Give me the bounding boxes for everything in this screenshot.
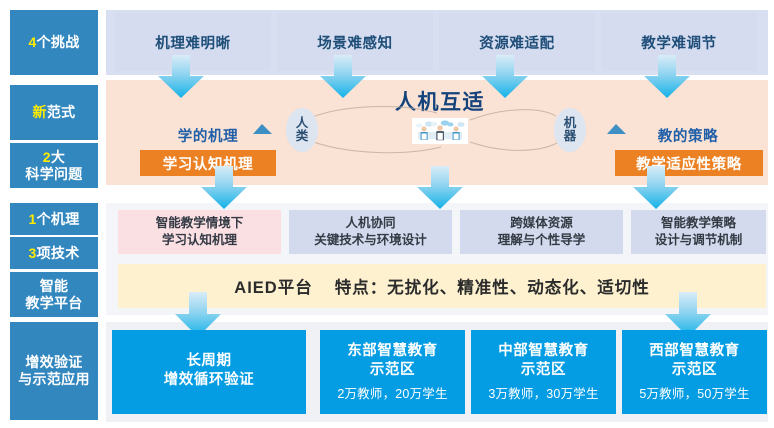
application-card-4[interactable]: 西部智慧教育 示范区 5万教师，50万学生: [622, 330, 767, 414]
aied-platform-strip[interactable]: AIED平台 特点：无扰化、精准性、动态化、适切性: [118, 264, 766, 308]
aied-platform-features: 特点：无扰化、精准性、动态化、适切性: [335, 274, 650, 298]
application-card-title: 长周期 增效循环验证: [164, 352, 255, 390]
application-card-title: 中部智慧教育 示范区: [498, 342, 589, 380]
application-card-sub: 2万教师，20万学生: [337, 383, 447, 402]
application-card-title: 西部智慧教育 示范区: [649, 342, 740, 380]
diagram-canvas: 4个挑战 新范式 2大 科学问题 1个机理 3项技术 智能 教学平台 增效验证 …: [0, 0, 774, 428]
application-card-2[interactable]: 东部智慧教育 示范区 2万教师，20万学生: [320, 330, 465, 414]
node-machine-label: 机 器: [564, 117, 577, 143]
human-machine-illustration: [412, 118, 468, 144]
tech-label: 人机协同 关键技术与环境设计: [314, 215, 427, 249]
application-card-1[interactable]: 长周期 增效循环验证: [112, 330, 306, 414]
tech-box-3[interactable]: 跨媒体资源 理解与个性导学: [460, 210, 623, 254]
node-human[interactable]: 人 类: [286, 108, 318, 152]
subtitle-text: 教的策略: [658, 125, 718, 146]
aied-platform-name: AIED平台: [234, 274, 312, 298]
node-machine[interactable]: 机 器: [554, 108, 586, 152]
tech-label: 智能教学策略 设计与调节机制: [655, 215, 743, 249]
subtitle-text: 学的机理: [178, 125, 238, 146]
tech-box-1[interactable]: 智能教学情境下 学习认知机理: [118, 210, 281, 254]
tech-box-4[interactable]: 智能教学策略 设计与调节机制: [631, 210, 766, 254]
application-card-sub: 3万教师，30万学生: [488, 383, 598, 402]
pill-text: 教学适应性策略: [636, 153, 742, 174]
application-card-title: 东部智慧教育 示范区: [347, 342, 438, 380]
tech-box-2[interactable]: 人机协同 关键技术与环境设计: [289, 210, 452, 254]
application-card-sub: 5万教师，50万学生: [639, 383, 749, 402]
node-human-label: 人 类: [296, 117, 309, 143]
teaching-adaptive-strategy-pill[interactable]: 教学适应性策略: [615, 150, 763, 176]
learning-mechanism-subtitle: 学的机理: [160, 125, 256, 145]
application-card-3[interactable]: 中部智慧教育 示范区 3万教师，30万学生: [471, 330, 616, 414]
learning-cognition-pill[interactable]: 学习认知机理: [140, 150, 276, 176]
tech-label: 智能教学情境下 学习认知机理: [156, 215, 244, 249]
pill-text: 学习认知机理: [163, 153, 254, 174]
tech-label: 跨媒体资源 理解与个性导学: [498, 215, 586, 249]
teaching-strategy-subtitle: 教的策略: [640, 125, 736, 145]
